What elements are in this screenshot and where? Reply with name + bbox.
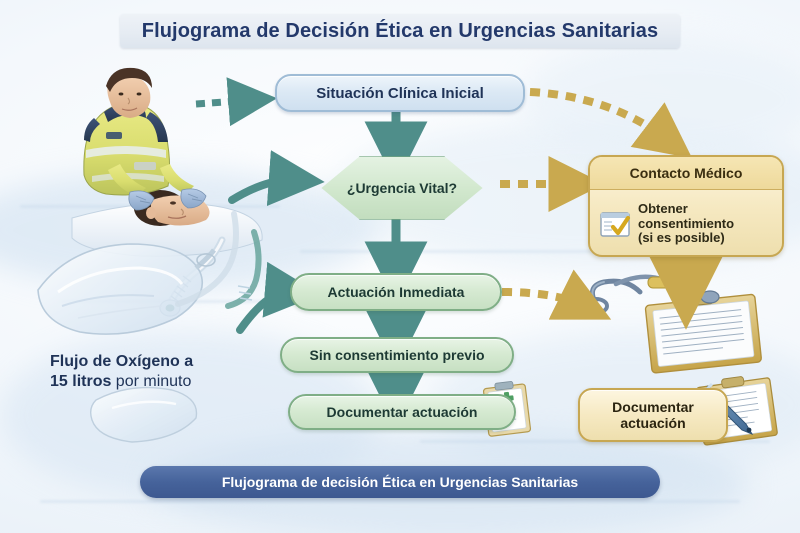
contacto-medico-card[interactable]: Contacto Médico Obtener consentimiento (… [588, 155, 784, 257]
documentar-card-text: Documentar actuación [612, 399, 694, 431]
oxygen-flow-caption: Flujo de Oxígeno a 15 litros por minuto [50, 352, 270, 392]
footer-banner: Flujograma de decisión Ética en Urgencia… [140, 466, 660, 498]
contacto-line-3: (si es posible) [638, 231, 734, 246]
stethoscope-on-clipboard-illustration [585, 277, 762, 373]
flow-node-situacion-clinica-inicial[interactable]: Situación Clínica Inicial [275, 74, 525, 112]
flow-node-label: Documentar actuación [327, 404, 478, 420]
footer-banner-text: Flujograma de decisión Ética en Urgencia… [222, 474, 578, 490]
arrow-oxygen-to-actuacion [240, 292, 292, 330]
contacto-line-2: consentimiento [638, 217, 734, 232]
oxygen-caption-value: 15 litros [50, 373, 111, 390]
documentar-line-2: actuación [612, 415, 694, 431]
flow-node-label: Situación Clínica Inicial [316, 85, 484, 102]
page-title: Flujograma de Decisión Ética en Urgencia… [120, 14, 680, 48]
infographic-canvas: Flujograma de Decisión Ética en Urgencia… [0, 0, 800, 533]
arrow-patient-to-urgencia [232, 180, 296, 200]
checkbox-document-icon [598, 207, 632, 241]
oxygen-reservoir-bag-illustration [38, 244, 215, 442]
flow-node-documentar-actuacion[interactable]: Documentar actuación [288, 394, 516, 430]
contacto-medico-header: Contacto Médico [590, 157, 782, 190]
page-title-text: Flujograma de Decisión Ética en Urgencia… [142, 20, 659, 43]
background-streak [20, 205, 280, 208]
documentar-actuacion-card[interactable]: Documentar actuación [578, 388, 728, 442]
flow-node-label: Sin consentimiento previo [309, 347, 484, 363]
documentar-line-1: Documentar [612, 399, 694, 415]
flow-node-label: ¿Urgencia Vital? [347, 180, 457, 196]
oxygen-line-illustration [178, 214, 259, 306]
oxygen-tubing-illustration [160, 240, 222, 316]
flow-node-urgencia-vital[interactable]: ¿Urgencia Vital? [296, 155, 508, 221]
background-wash [520, 40, 800, 160]
arrow-paramedic-to-situacion [196, 100, 252, 104]
arrow-actuacion-to-documentar-gold [502, 292, 584, 306]
contacto-medico-body: Obtener consentimiento (si es posible) [590, 189, 782, 259]
contacto-line-1: Obtener [638, 202, 734, 217]
oxygen-caption-line-1: Flujo de Oxígeno a [50, 352, 270, 372]
background-streak [40, 500, 740, 503]
oxygen-caption-line-2: 15 litros por minuto [50, 372, 270, 392]
flow-node-label: Actuación Inmediata [328, 284, 465, 300]
oxygen-caption-unit: por minuto [111, 373, 191, 390]
paramedic-treating-patient-illustration [72, 68, 262, 256]
flow-node-sin-consentimiento-previo[interactable]: Sin consentimiento previo [280, 337, 514, 373]
contacto-medico-title: Contacto Médico [630, 165, 743, 181]
contacto-medico-text: Obtener consentimiento (si es posible) [638, 202, 734, 247]
arrow-situacion-to-contacto-path [530, 92, 668, 140]
flow-node-actuacion-inmediata[interactable]: Actuación Inmediata [290, 273, 502, 311]
